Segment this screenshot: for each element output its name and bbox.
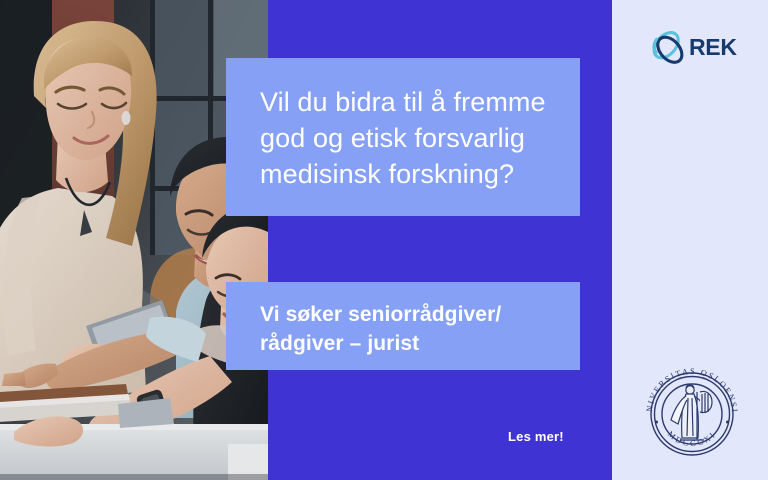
apollo-with-lyre-figure	[671, 385, 712, 440]
read-more-link[interactable]: Les mer!	[508, 429, 564, 444]
uio-seal-graphic: UNIVERSITAS OSLOENSIS MDCCCXI	[640, 362, 744, 466]
recruitment-banner: Vil du bidra til å fremme god og etisk f…	[0, 0, 768, 480]
headline-text: Vil du bidra til å fremme god og etisk f…	[260, 84, 580, 192]
job-title-box: Vi søker seniorrådgiver/ rådgiver – juri…	[226, 282, 580, 370]
interlocking-ellipses-mark	[648, 27, 688, 67]
job-title-text: Vi søker seniorrådgiver/ rådgiver – juri…	[260, 300, 580, 358]
rek-logo[interactable]: REK	[648, 24, 740, 70]
uio-seal[interactable]: UNIVERSITAS OSLOENSIS MDCCCXI	[640, 362, 744, 466]
rek-wordmark: REK	[689, 36, 737, 59]
headline-box: Vil du bidra til å fremme god og etisk f…	[226, 58, 580, 216]
